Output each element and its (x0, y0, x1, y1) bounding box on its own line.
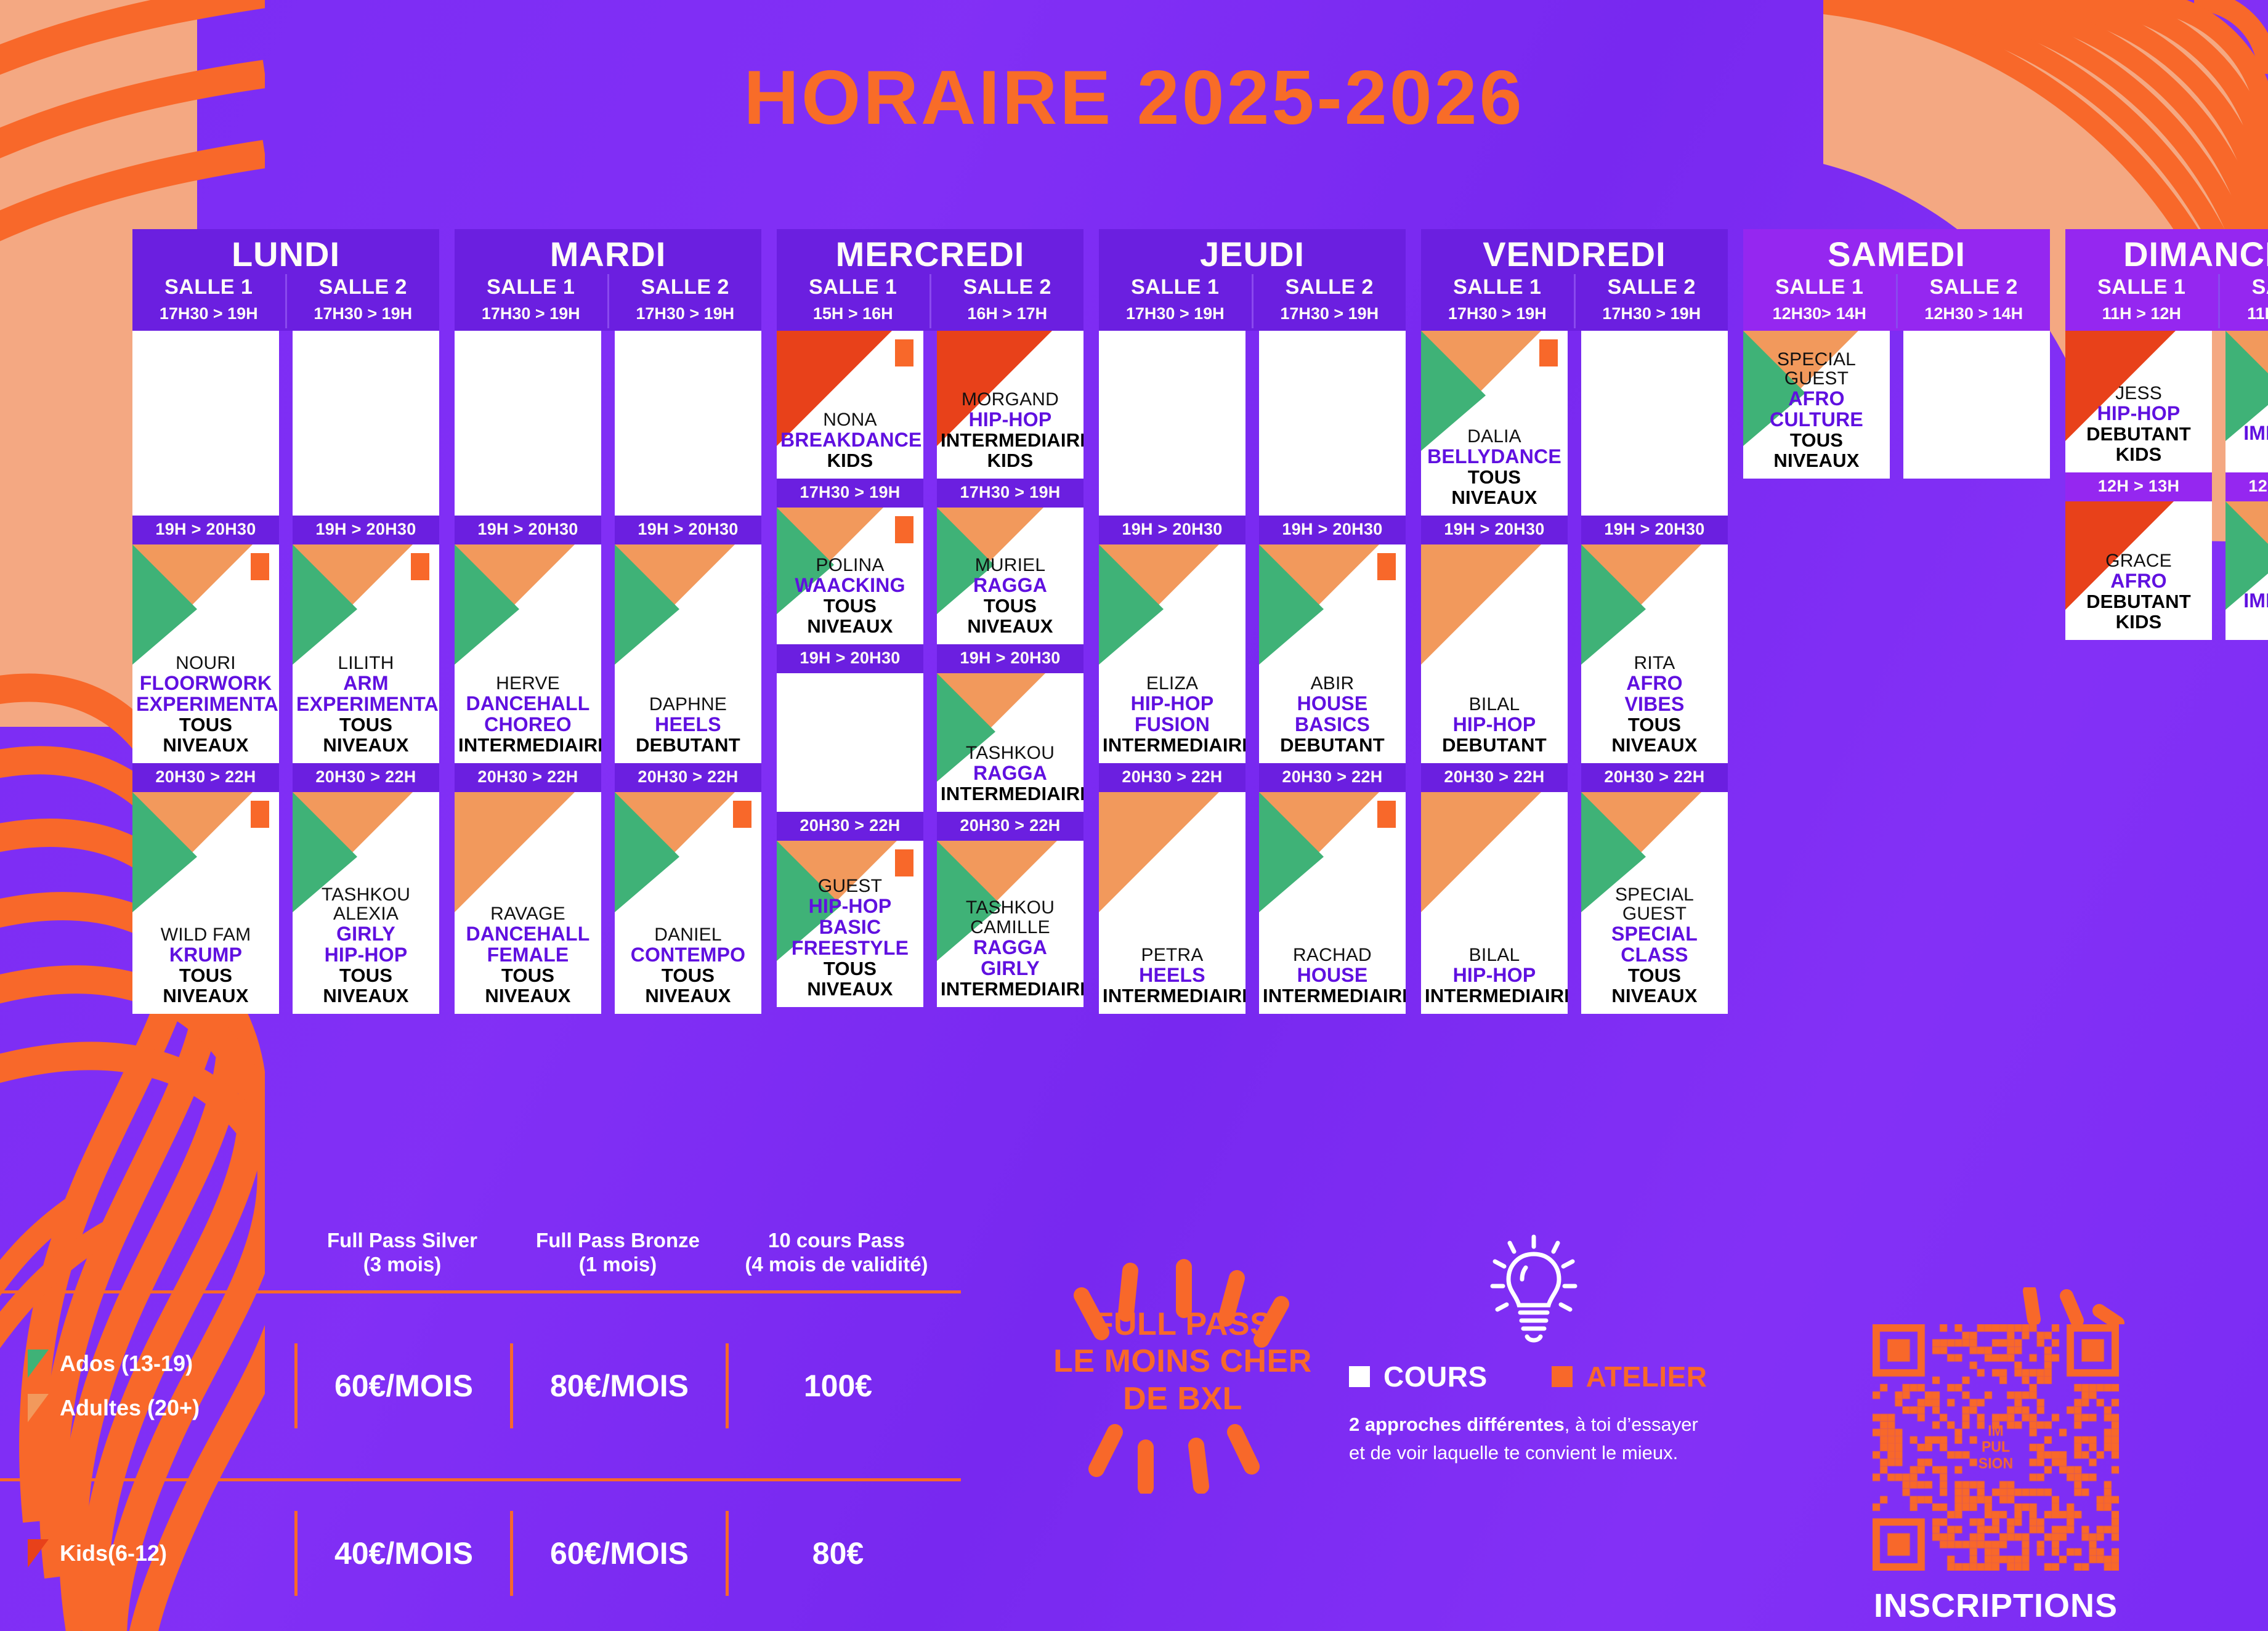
slot-time-label: 19H > 20H30 (1099, 516, 1245, 544)
room-header-1: SALLE 117H30 > 19H (132, 274, 285, 328)
class-card-text: MURIELRAGGATOUS NIVEAUX (941, 556, 1080, 636)
class-style: FEMALE (458, 945, 597, 966)
class-style: FLOORWORK (136, 673, 275, 694)
room-time: 17H30 > 19H (135, 304, 283, 323)
time-slot: 17H30 > 19HPOLINAWAACKINGTOUS NIVEAUX (777, 479, 923, 644)
class-teacher: NOURI (136, 654, 275, 673)
empty-class-card (132, 331, 279, 516)
time-slot: 20H30 > 22HRAVAGEDANCEHALLFEMALETOUS NIV… (455, 763, 601, 1014)
day-name: LUNDI (132, 235, 439, 274)
room-header-row: SALLE 117H30 > 19HSALLE 217H30 > 19H (1099, 274, 1406, 328)
class-level: KIDS (2069, 612, 2208, 633)
class-card-text: LILITHARMEXPERIMENTALTOUS NIVEAUX (296, 654, 435, 755)
time-slot: DALIABELLYDANCETOUS NIVEAUX (1421, 331, 1568, 516)
slot-row: 20H30 > 22HRAVAGEDANCEHALLFEMALETOUS NIV… (455, 763, 761, 1014)
room-time: 12H30 > 14H (1900, 304, 2048, 323)
slot-row: 19H > 20H30HERVEDANCEHALLCHOREOINTERMEDI… (455, 516, 761, 763)
class-card[interactable]: TASHKOU CAMILLERAGGAGIRLYINTERMEDIAIRE (937, 841, 1083, 1007)
day-column-mercredi: MERCREDISALLE 115H > 16HSALLE 216H > 17H… (777, 229, 1083, 1014)
class-style: RAGGA (941, 763, 1080, 784)
class-style: HIP-HOP (296, 945, 435, 966)
class-level: INTERMEDIAIRE (458, 735, 597, 756)
atelier-badge-icon (251, 801, 269, 828)
class-style: CREW (2229, 612, 2268, 633)
time-slot: 19H > 20H30ELIZAHIP-HOPFUSIONINTERMEDIAI… (1099, 516, 1245, 763)
slot-time-label: 19H > 20H30 (293, 516, 439, 544)
room-header-2: SALLE 217H30 > 19H (285, 274, 440, 328)
class-card[interactable]: PETRAHEELSINTERMEDIAIRE (1099, 792, 1245, 1014)
class-card[interactable]: HERVEDANCEHALLCHOREOINTERMEDIAIRE (455, 544, 601, 763)
price-value: 60€/MOIS (510, 1511, 726, 1596)
class-teacher: DANIEL (618, 925, 758, 945)
room-time: 17H30 > 19H (1256, 304, 1404, 323)
full-pass-line1: FULL PASS (1023, 1306, 1343, 1343)
room-name: SALLE 2 (290, 275, 437, 299)
room-time: 12H30> 14H (1746, 304, 1893, 323)
pricing-row: Kids(6-12)40€/MOIS60€/MOIS80€ (0, 1478, 961, 1626)
time-slot: 20H30 > 22HBILALHIP-HOPINTERMEDIAIRE (1421, 763, 1568, 1014)
audience-triangle-icon (28, 1350, 49, 1378)
class-level: INTERMEDIAIRE (941, 979, 1080, 1000)
time-slot: 19H > 20H30DAPHNEHEELSDEBUTANT (615, 516, 761, 763)
qr-code[interactable] (1873, 1324, 2119, 1571)
full-pass-line2: LE MOINS CHER (1023, 1343, 1343, 1380)
room-header-1: SALLE 112H30> 14H (1743, 274, 1896, 328)
room-time: 16H > 17H (934, 304, 1082, 323)
class-teacher: MORGAND (941, 390, 1080, 410)
room-name: SALLE 2 (1256, 275, 1404, 299)
class-teacher: RACHAD (1263, 945, 1402, 965)
class-card-text: NONABREAKDANCEKIDS (780, 410, 920, 471)
class-style: RAGGA (941, 937, 1080, 958)
class-card[interactable]: GUESTHIP-HOP BASICFREESTYLETOUS NIVEAUX (777, 841, 923, 1007)
class-style: CREW (2229, 444, 2268, 465)
class-teacher: TASHKOU (941, 743, 1080, 763)
class-card-text: MORGANDHIP-HOPINTERMEDIAIREKIDS (941, 390, 1080, 471)
time-slot (615, 331, 761, 516)
slot-row: 20H30 > 22HWILD FAMKRUMPTOUS NIVEAUX20H3… (132, 763, 439, 1014)
class-teacher: ABIR (1263, 674, 1402, 694)
class-style: CHOREO (458, 714, 597, 735)
class-level: DEBUTANT (2069, 424, 2208, 445)
slot-row (132, 331, 439, 516)
slot-row: 20H30 > 22HGUESTHIP-HOP BASICFREESTYLETO… (777, 812, 1083, 1007)
pricing-body: Ados (13-19)Adultes (20+)60€/MOIS80€/MOI… (0, 1290, 961, 1626)
class-card-text: NOURIFLOORWORKEXPERIMENTALTOUS NIVEAUX (136, 654, 275, 755)
class-style: BREAKDANCE (780, 430, 920, 451)
class-level: INTERMEDIAIRE (1425, 986, 1564, 1006)
slot-time-label: 19H > 20H30 (455, 516, 601, 544)
room-time: 11H > 12H (2068, 304, 2216, 323)
class-card[interactable]: IMPULSIONCREW (2225, 331, 2268, 472)
legend-atelier-label: ATELIER (1586, 1360, 1707, 1393)
time-slot: 12H30 > 14HIMPULSIONCREW (2225, 472, 2268, 640)
pricing-column-sub: (4 mois de validité) (726, 1253, 947, 1277)
legend-block: COURS ATELIER 2 approches différentes, à… (1349, 1232, 1719, 1467)
slot-time-label: 20H30 > 22H (1581, 763, 1728, 792)
room-header-row: SALLE 117H30 > 19HSALLE 217H30 > 19H (132, 274, 439, 328)
slot-time-label: 19H > 20H30 (615, 516, 761, 544)
class-style: DANCEHALL (458, 924, 597, 945)
slot-time-label: 12H30 > 14H (2225, 472, 2268, 501)
class-card-text: RACHADHOUSEINTERMEDIAIRE (1263, 945, 1402, 1006)
time-slot: 19H > 20H30ABIRHOUSEBASICSDEBUTANT (1259, 516, 1406, 763)
class-style: HIP-HOP (1425, 714, 1564, 735)
day-header: MERCREDISALLE 115H > 16HSALLE 216H > 17H (777, 229, 1083, 331)
slot-row (455, 331, 761, 516)
room-time: 17H30 > 19H (290, 304, 437, 323)
empty-class-card (777, 673, 923, 812)
class-card[interactable]: POLINAWAACKINGTOUS NIVEAUX (777, 508, 923, 644)
time-slot: 20H30 > 22HTASHKOU ALEXIAGIRLYHIP-HOPTOU… (293, 763, 439, 1014)
slot-row: 12H > 13HGRACEAFRODEBUTANTKIDS12H30 > 14… (2065, 472, 2268, 640)
class-style: HIP-HOP (1425, 965, 1564, 986)
audience-legend-line: Ados (13-19) (28, 1350, 294, 1378)
day-column-samedi: SAMEDISALLE 112H30> 14HSALLE 212H30 > 14… (1743, 229, 2050, 1014)
slot-time-label: 19H > 20H30 (777, 644, 923, 673)
class-card-text: RITAAFROVIBESTOUS NIVEAUX (1585, 654, 1724, 755)
room-header-row: SALLE 117H30 > 19HSALLE 217H30 > 19H (455, 274, 761, 328)
time-slot: 20H30 > 22HDANIELCONTEMPOTOUS NIVEAUX (615, 763, 761, 1014)
price-value: 80€ (726, 1511, 947, 1596)
empty-class-card (1099, 331, 1245, 516)
class-teacher: RAVAGE (458, 904, 597, 924)
class-level: TOUS NIVEAUX (1585, 966, 1724, 1006)
room-header-2: SALLE 216H > 17H (929, 274, 1084, 328)
time-slot (132, 331, 279, 516)
atelier-badge-icon (411, 553, 429, 580)
day-header: LUNDISALLE 117H30 > 19HSALLE 217H30 > 19… (132, 229, 439, 331)
class-style: ARM (296, 673, 435, 694)
room-name: SALLE 1 (1101, 275, 1249, 299)
class-card-text: WILD FAMKRUMPTOUS NIVEAUX (136, 925, 275, 1006)
room-time: 17H30 > 19H (612, 304, 759, 323)
class-style: BELLYDANCE (1425, 447, 1564, 467)
class-card-text: TASHKOU ALEXIAGIRLYHIP-HOPTOUS NIVEAUX (296, 885, 435, 1006)
class-level: TOUS NIVEAUX (941, 596, 1080, 637)
class-card[interactable]: TASHKOURAGGAINTERMEDIAIRE (937, 673, 1083, 812)
class-teacher: DALIA (1425, 427, 1564, 447)
class-teacher: BILAL (1425, 695, 1564, 714)
slot-time-label: 20H30 > 22H (937, 812, 1083, 841)
class-card[interactable]: ABIRHOUSEBASICSDEBUTANT (1259, 544, 1406, 763)
audience-triangle-icon (28, 1394, 49, 1422)
class-card[interactable]: SPECIAL GUESTSPECIALCLASSTOUS NIVEAUX (1581, 792, 1728, 1014)
class-teacher: SPECIAL (1747, 350, 1886, 370)
time-slot: 19H > 20H30 (777, 644, 923, 812)
class-card[interactable]: WILD FAMKRUMPTOUS NIVEAUX (132, 792, 279, 1014)
pricing-column-title: Full Pass Silver (294, 1229, 510, 1253)
class-card[interactable]: DALIABELLYDANCETOUS NIVEAUX (1421, 331, 1568, 516)
class-card[interactable]: DAPHNEHEELSDEBUTANT (615, 544, 761, 763)
slot-row: 20H30 > 22HBILALHIP-HOPINTERMEDIAIRE20H3… (1421, 763, 1728, 1014)
empty-class-card (615, 331, 761, 516)
class-teacher: GUEST (780, 876, 920, 896)
slot-row: 19H > 20H3019H > 20H30TASHKOURAGGAINTERM… (777, 644, 1083, 812)
class-teacher: GUEST (1747, 369, 1886, 389)
day-name: MERCREDI (777, 235, 1083, 274)
atelier-badge-icon (895, 516, 913, 543)
class-card[interactable]: BILALHIP-HOPINTERMEDIAIRE (1421, 792, 1568, 1014)
class-level: INTERMEDIAIRE (1263, 986, 1402, 1006)
legend-cours-label: COURS (1383, 1360, 1488, 1393)
class-style: HIP-HOP (1103, 694, 1242, 714)
time-slot: 20H30 > 22HWILD FAMKRUMPTOUS NIVEAUX (132, 763, 279, 1014)
slot-time-label: 17H30 > 19H (777, 479, 923, 508)
room-name: SALLE 1 (2068, 275, 2216, 299)
day-header: VENDREDISALLE 117H30 > 19HSALLE 217H30 >… (1421, 229, 1728, 331)
class-card-text: TASHKOU CAMILLERAGGAGIRLYINTERMEDIAIRE (941, 898, 1080, 999)
slot-time-label: 20H30 > 22H (455, 763, 601, 792)
class-card-text: ELIZAHIP-HOPFUSIONINTERMEDIAIRE (1103, 674, 1242, 755)
class-level: TOUS NIVEAUX (296, 715, 435, 756)
empty-class-card (1903, 331, 2050, 479)
class-card-text: DANIELCONTEMPOTOUS NIVEAUX (618, 925, 758, 1006)
class-level: TOUS NIVEAUX (296, 966, 435, 1006)
room-time: 17H30 > 19H (1578, 304, 1726, 323)
class-card[interactable]: JESSHIP-HOPDEBUTANTKIDS (2065, 331, 2212, 472)
slot-time-label: 19H > 20H30 (1421, 516, 1568, 544)
room-name: SALLE 1 (135, 275, 283, 299)
price-value: 60€/MOIS (294, 1343, 510, 1428)
price-value: 100€ (726, 1343, 947, 1428)
slot-time-label: 20H30 > 22H (777, 812, 923, 841)
class-level: TOUS NIVEAUX (136, 966, 275, 1006)
class-style: DANCEHALL (458, 694, 597, 714)
empty-class-card (455, 331, 601, 516)
class-level: INTERMEDIAIRE (941, 431, 1080, 451)
full-pass-text: FULL PASS LE MOINS CHER DE BXL (1023, 1306, 1343, 1417)
atelier-badge-icon (1377, 553, 1396, 580)
empty-class-card (293, 331, 439, 516)
slot-time-label: 12H > 13H (2065, 472, 2212, 501)
pricing-column-header-3: 10 cours Pass(4 mois de validité) (726, 1229, 947, 1277)
class-card[interactable]: RAVAGEDANCEHALLFEMALETOUS NIVEAUX (455, 792, 601, 1014)
day-name: DIMANCHE (2065, 235, 2268, 274)
class-card[interactable]: NOURIFLOORWORKEXPERIMENTALTOUS NIVEAUX (132, 544, 279, 763)
class-card[interactable]: MURIELRAGGATOUS NIVEAUX (937, 508, 1083, 644)
time-slot: SPECIALGUESTAFROCULTURETOUS NIVEAUX (1743, 331, 1890, 479)
slot-time-label: 19H > 20H30 (1259, 516, 1406, 544)
class-level: TOUS NIVEAUX (136, 715, 275, 756)
empty-class-card (1259, 331, 1406, 516)
class-style: CULTURE (1747, 410, 1886, 431)
class-style: AFRO (2069, 571, 2208, 592)
class-level: KIDS (941, 451, 1080, 471)
room-header-row: SALLE 112H30> 14HSALLE 212H30 > 14H (1743, 274, 2050, 328)
class-style: BASICS (1263, 714, 1402, 735)
time-slot: 19H > 20H30HERVEDANCEHALLCHOREOINTERMEDI… (455, 516, 601, 763)
class-card-text: GRACEAFRODEBUTANTKIDS (2069, 551, 2208, 632)
class-card-text: DALIABELLYDANCETOUS NIVEAUX (1425, 427, 1564, 508)
atelier-badge-icon (251, 553, 269, 580)
class-card[interactable]: IMPULSIONCREW (2225, 501, 2268, 640)
slot-row: 17H30 > 19HPOLINAWAACKINGTOUS NIVEAUX17H… (777, 479, 1083, 644)
time-slot (1903, 331, 2050, 479)
slot-row: DALIABELLYDANCETOUS NIVEAUX (1421, 331, 1728, 516)
signup-heading: INSCRIPTIONS SUR (1836, 1587, 2156, 1631)
slot-row (1099, 331, 1406, 516)
class-card[interactable]: NONABREAKDANCEKIDS (777, 331, 923, 479)
time-slot: 19H > 20H30NOURIFLOORWORKEXPERIMENTALTOU… (132, 516, 279, 763)
time-slot: 20H30 > 22HGUESTHIP-HOP BASICFREESTYLETO… (777, 812, 923, 1007)
pricing-header-row: Full Pass Silver(3 mois)Full Pass Bronze… (0, 1229, 961, 1277)
slot-time-label: 20H30 > 22H (1421, 763, 1568, 792)
price-value: 80€/MOIS (510, 1343, 726, 1428)
class-teacher: BILAL (1425, 945, 1564, 965)
slot-time-label: 19H > 20H30 (1581, 516, 1728, 544)
room-name: SALLE 2 (2222, 275, 2268, 299)
room-name: SALLE 1 (1424, 275, 1571, 299)
room-name: SALLE 1 (779, 275, 927, 299)
class-card[interactable]: ELIZAHIP-HOPFUSIONINTERMEDIAIRE (1099, 544, 1245, 763)
time-slot: 19H > 20H30LILITHARMEXPERIMENTALTOUS NIV… (293, 516, 439, 763)
room-header-2: SALLE 212H30 > 14H (1896, 274, 2051, 328)
time-slot: JESSHIP-HOPDEBUTANTKIDS (2065, 331, 2212, 472)
class-style: HIP-HOP BASIC (780, 896, 920, 938)
day-name: SAMEDI (1743, 235, 2050, 274)
time-slot (1099, 331, 1245, 516)
room-header-1: SALLE 117H30 > 19H (455, 274, 607, 328)
class-style: SPECIAL (1585, 924, 1724, 945)
pricing-row-labels: Kids(6-12) (0, 1539, 294, 1568)
slot-time-label: 19H > 20H30 (132, 516, 279, 544)
pricing-column-sub: (1 mois) (510, 1253, 726, 1277)
room-header-2: SALLE 211H > 12H30 (2218, 274, 2268, 328)
room-name: SALLE 1 (457, 275, 605, 299)
time-slot: 20H30 > 22HSPECIAL GUESTSPECIALCLASSTOUS… (1581, 763, 1728, 1014)
room-time: 17H30 > 19H (1101, 304, 1249, 323)
audience-legend-line: Kids(6-12) (28, 1539, 294, 1568)
audience-label: Ados (13-19) (60, 1351, 193, 1377)
slot-row: 19H > 20H30BILALHIP-HOPDEBUTANT19H > 20H… (1421, 516, 1728, 763)
room-time: 17H30 > 19H (1424, 304, 1571, 323)
class-style: EXPERIMENTAL (136, 694, 275, 715)
class-level: TOUS NIVEAUX (780, 596, 920, 637)
class-card[interactable]: TASHKOU ALEXIAGIRLYHIP-HOPTOUS NIVEAUX (293, 792, 439, 1014)
class-card[interactable]: RITAAFROVIBESTOUS NIVEAUX (1581, 544, 1728, 763)
class-teacher: TASHKOU CAMILLE (941, 898, 1080, 937)
time-slot: 19H > 20H30BILALHIP-HOPDEBUTANT (1421, 516, 1568, 763)
class-card-text: SPECIALGUESTAFROCULTURETOUS NIVEAUX (1747, 350, 1886, 471)
class-card[interactable]: MORGANDHIP-HOPINTERMEDIAIREKIDS (937, 331, 1083, 479)
class-card[interactable]: BILALHIP-HOPDEBUTANT (1421, 544, 1568, 763)
class-style: AFRO (1747, 389, 1886, 410)
audience-label: Adultes (20+) (60, 1395, 200, 1421)
class-teacher: HERVE (458, 674, 597, 694)
slot-time-label: 17H30 > 19H (937, 479, 1083, 508)
time-slot: 19H > 20H30TASHKOURAGGAINTERMEDIAIRE (937, 644, 1083, 812)
atelier-badge-icon (1377, 801, 1396, 828)
time-slot: 17H30 > 19HMURIELRAGGATOUS NIVEAUX (937, 479, 1083, 644)
class-card-text: RAVAGEDANCEHALLFEMALETOUS NIVEAUX (458, 904, 597, 1006)
room-header-1: SALLE 111H > 12H (2065, 274, 2218, 328)
page-title: HORAIRE 2025-2026 (0, 54, 2268, 142)
time-slot: NONABREAKDANCEKIDS (777, 331, 923, 479)
class-card[interactable]: SPECIALGUESTAFROCULTURETOUS NIVEAUX (1743, 331, 1890, 479)
pricing-row: Ados (13-19)Adultes (20+)60€/MOIS80€/MOI… (0, 1293, 961, 1478)
room-header-row: SALLE 117H30 > 19HSALLE 217H30 > 19H (1421, 274, 1728, 328)
class-level: INTERMEDIAIRE (1103, 735, 1242, 756)
class-level: DEBUTANT (1263, 735, 1402, 756)
full-pass-line3: DE BXL (1023, 1380, 1343, 1417)
class-teacher: TASHKOU ALEXIA (296, 885, 435, 925)
slot-row: JESSHIP-HOPDEBUTANTKIDSIMPULSIONCREW (2065, 331, 2268, 472)
room-time: 17H30 > 19H (457, 304, 605, 323)
room-header-2: SALLE 217H30 > 19H (1252, 274, 1406, 328)
class-card[interactable]: GRACEAFRODEBUTANTKIDS (2065, 501, 2212, 640)
class-card-text: BILALHIP-HOPINTERMEDIAIRE (1425, 945, 1564, 1006)
class-style: GIRLY (296, 924, 435, 945)
class-teacher: SPECIAL GUEST (1585, 885, 1724, 925)
room-name: SALLE 2 (934, 275, 1082, 299)
class-card[interactable]: DANIELCONTEMPOTOUS NIVEAUX (615, 792, 761, 1014)
class-teacher: POLINA (780, 556, 920, 575)
time-slot: MORGANDHIP-HOPINTERMEDIAIREKIDS (937, 331, 1083, 479)
class-style: HOUSE (1263, 694, 1402, 714)
day-header: DIMANCHESALLE 111H > 12HSALLE 211H > 12H… (2065, 229, 2268, 331)
class-card-text: JESSHIP-HOPDEBUTANTKIDS (2069, 384, 2208, 464)
room-header-2: SALLE 217H30 > 19H (1574, 274, 1728, 328)
lightbulb-icon (1488, 1232, 1580, 1349)
class-teacher: JESS (2069, 384, 2208, 403)
class-style: AFRO (1585, 673, 1724, 694)
audience-label: Kids(6-12) (60, 1540, 167, 1566)
class-teacher: GRACE (2069, 551, 2208, 571)
class-teacher: RITA (1585, 654, 1724, 673)
atelier-badge-icon (895, 339, 913, 366)
day-header: JEUDISALLE 117H30 > 19HSALLE 217H30 > 19… (1099, 229, 1406, 331)
day-column-dimanche: DIMANCHESALLE 111H > 12HSALLE 211H > 12H… (2065, 229, 2268, 1014)
class-card-text: GUESTHIP-HOP BASICFREESTYLETOUS NIVEAUX (780, 876, 920, 999)
class-style: HEELS (1103, 965, 1242, 986)
room-header-1: SALLE 115H > 16H (777, 274, 929, 328)
legend-items: COURS ATELIER (1349, 1360, 1719, 1393)
class-card-text: PETRAHEELSINTERMEDIAIRE (1103, 945, 1242, 1006)
class-level: KIDS (780, 451, 920, 471)
day-header: MARDISALLE 117H30 > 19HSALLE 217H30 > 19… (455, 229, 761, 331)
class-level: DEBUTANT (618, 735, 758, 756)
day-name: MARDI (455, 235, 761, 274)
class-card-text: HERVEDANCEHALLCHOREOINTERMEDIAIRE (458, 674, 597, 755)
class-style: FUSION (1103, 714, 1242, 735)
slot-time-label: 20H30 > 22H (1099, 763, 1245, 792)
class-card-text: SPECIAL GUESTSPECIALCLASSTOUS NIVEAUX (1585, 885, 1724, 1006)
room-header-1: SALLE 117H30 > 19H (1421, 274, 1574, 328)
time-slot: 20H30 > 22HRACHADHOUSEINTERMEDIAIRE (1259, 763, 1406, 1014)
class-card[interactable]: LILITHARMEXPERIMENTALTOUS NIVEAUX (293, 544, 439, 763)
slot-row: 20H30 > 22HPETRAHEELSINTERMEDIAIRE20H30 … (1099, 763, 1406, 1014)
class-card[interactable]: RACHADHOUSEINTERMEDIAIRE (1259, 792, 1406, 1014)
pricing-row-labels: Ados (13-19)Adultes (20+) (0, 1350, 294, 1422)
class-style: CLASS (1585, 945, 1724, 966)
atelier-swatch-icon (1552, 1366, 1573, 1387)
pricing-column-sub: (3 mois) (294, 1253, 510, 1277)
pricing-column-title: Full Pass Bronze (510, 1229, 726, 1253)
slot-time-label: 20H30 > 22H (615, 763, 761, 792)
class-style: GIRLY (941, 958, 1080, 979)
class-style: KRUMP (136, 945, 275, 966)
class-card-text: POLINAWAACKINGTOUS NIVEAUX (780, 556, 920, 636)
class-level: KIDS (2069, 445, 2208, 465)
room-header-row: SALLE 115H > 16HSALLE 216H > 17H (777, 274, 1083, 328)
time-slot: 20H30 > 22HTASHKOU CAMILLERAGGAGIRLYINTE… (937, 812, 1083, 1007)
day-name: VENDREDI (1421, 235, 1728, 274)
time-slot: 20H30 > 22HPETRAHEELSINTERMEDIAIRE (1099, 763, 1245, 1014)
time-slot: IMPULSIONCREW (2225, 331, 2268, 472)
room-header-2: SALLE 217H30 > 19H (607, 274, 762, 328)
class-level: TOUS NIVEAUX (1747, 431, 1886, 471)
